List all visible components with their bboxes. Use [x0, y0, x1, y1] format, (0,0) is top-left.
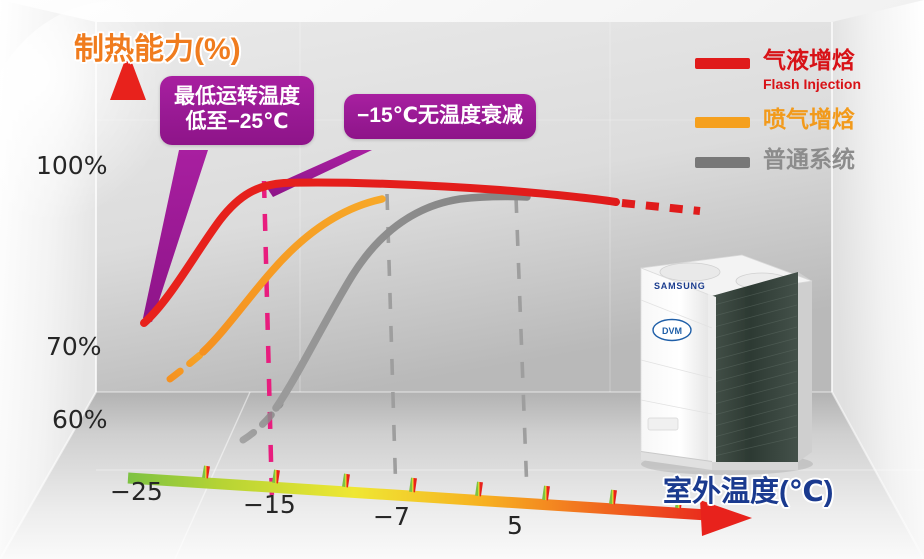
samsung-outdoor-unit-image: SAMSUNG DVM [641, 255, 813, 475]
y-tick-label-60: 60% [52, 405, 108, 434]
callout-no-decay-text: −15℃无温度衰减 [357, 104, 523, 129]
curve-normal-system [243, 196, 527, 440]
x-tick-label-minus25: −25 [110, 477, 163, 506]
dvm-badge-text: DVM [662, 326, 682, 336]
y-axis [110, 52, 148, 478]
samsung-brand-text: SAMSUNG [654, 281, 706, 291]
x-tick-label-minus15: −15 [243, 490, 296, 519]
curve-vapor-injection [170, 199, 382, 379]
legend-swatch-normal-system [695, 157, 750, 168]
callout-min-temp-line2: 低至−25℃ [174, 110, 300, 135]
marker-line-plus5 [516, 197, 527, 493]
marker-line-minus7 [387, 194, 396, 497]
y-tick-label-70: 70% [46, 332, 102, 361]
chart-canvas: SAMSUNG DVM [0, 0, 924, 559]
x-axis [128, 466, 752, 536]
legend-item-flash-injection[interactable]: 气液增焓 Flash Injection [695, 48, 861, 93]
callout-pointer-no-decay [267, 150, 372, 197]
legend-label-normal-system: 普通系统 [763, 147, 855, 173]
x-tick-label-plus5: 5 [507, 511, 523, 540]
legend-sublabel-flash-injection: Flash Injection [763, 75, 861, 93]
legend-label-vapor-injection: 喷气增焓 [763, 107, 855, 133]
callout-min-temp-line1: 最低运转温度 [174, 85, 300, 110]
legend-swatch-flash-injection [695, 58, 750, 69]
callout-no-capacity-decay: −15℃无温度衰减 [344, 94, 536, 139]
x-tick-label-minus7: −7 [373, 502, 410, 531]
curve-flash-injection [144, 182, 700, 323]
chart-legend: 气液增焓 Flash Injection 喷气增焓 普通系统 [695, 48, 861, 186]
y-axis-title: 制热能力(%) [74, 24, 241, 68]
curve-flash-injection-dashed-tail [622, 203, 700, 211]
callout-min-operating-temp: 最低运转温度 低至−25℃ [160, 76, 314, 145]
legend-item-normal-system[interactable]: 普通系统 [695, 147, 861, 173]
marker-line-minus15 [264, 181, 272, 500]
legend-label-flash-injection: 气液增焓 [763, 48, 861, 74]
legend-item-vapor-injection[interactable]: 喷气增焓 [695, 107, 861, 133]
callout-pointer-min-temp [143, 150, 208, 322]
legend-swatch-vapor-injection [695, 117, 750, 128]
y-tick-label-100: 100% [36, 151, 107, 180]
x-axis-title: 室外温度(℃) [663, 468, 833, 510]
